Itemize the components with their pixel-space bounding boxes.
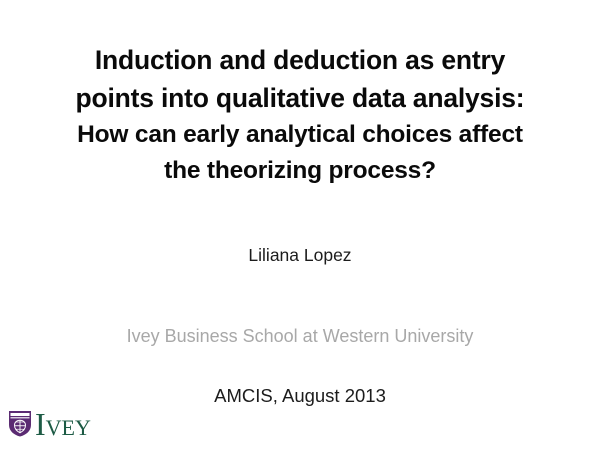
page-title: Induction and deduction as entry points … [30,41,570,189]
title-line-1: Induction and deduction as entry [30,41,570,79]
title-line-4: the theorizing process? [30,153,570,189]
affiliation-text: Ivey Business School at Western Universi… [0,324,600,349]
ivey-wordmark: Ivey [35,408,91,440]
title-line-3: How can early analytical choices affect [30,117,570,153]
ivey-logo: Ivey [8,404,91,442]
title-line-2: points into qualitative data analysis: [30,79,570,117]
presentation-title-slide: Induction and deduction as entry points … [0,0,600,450]
author-name: Liliana Lopez [0,243,600,267]
ivey-shield-crest-icon [8,410,32,437]
